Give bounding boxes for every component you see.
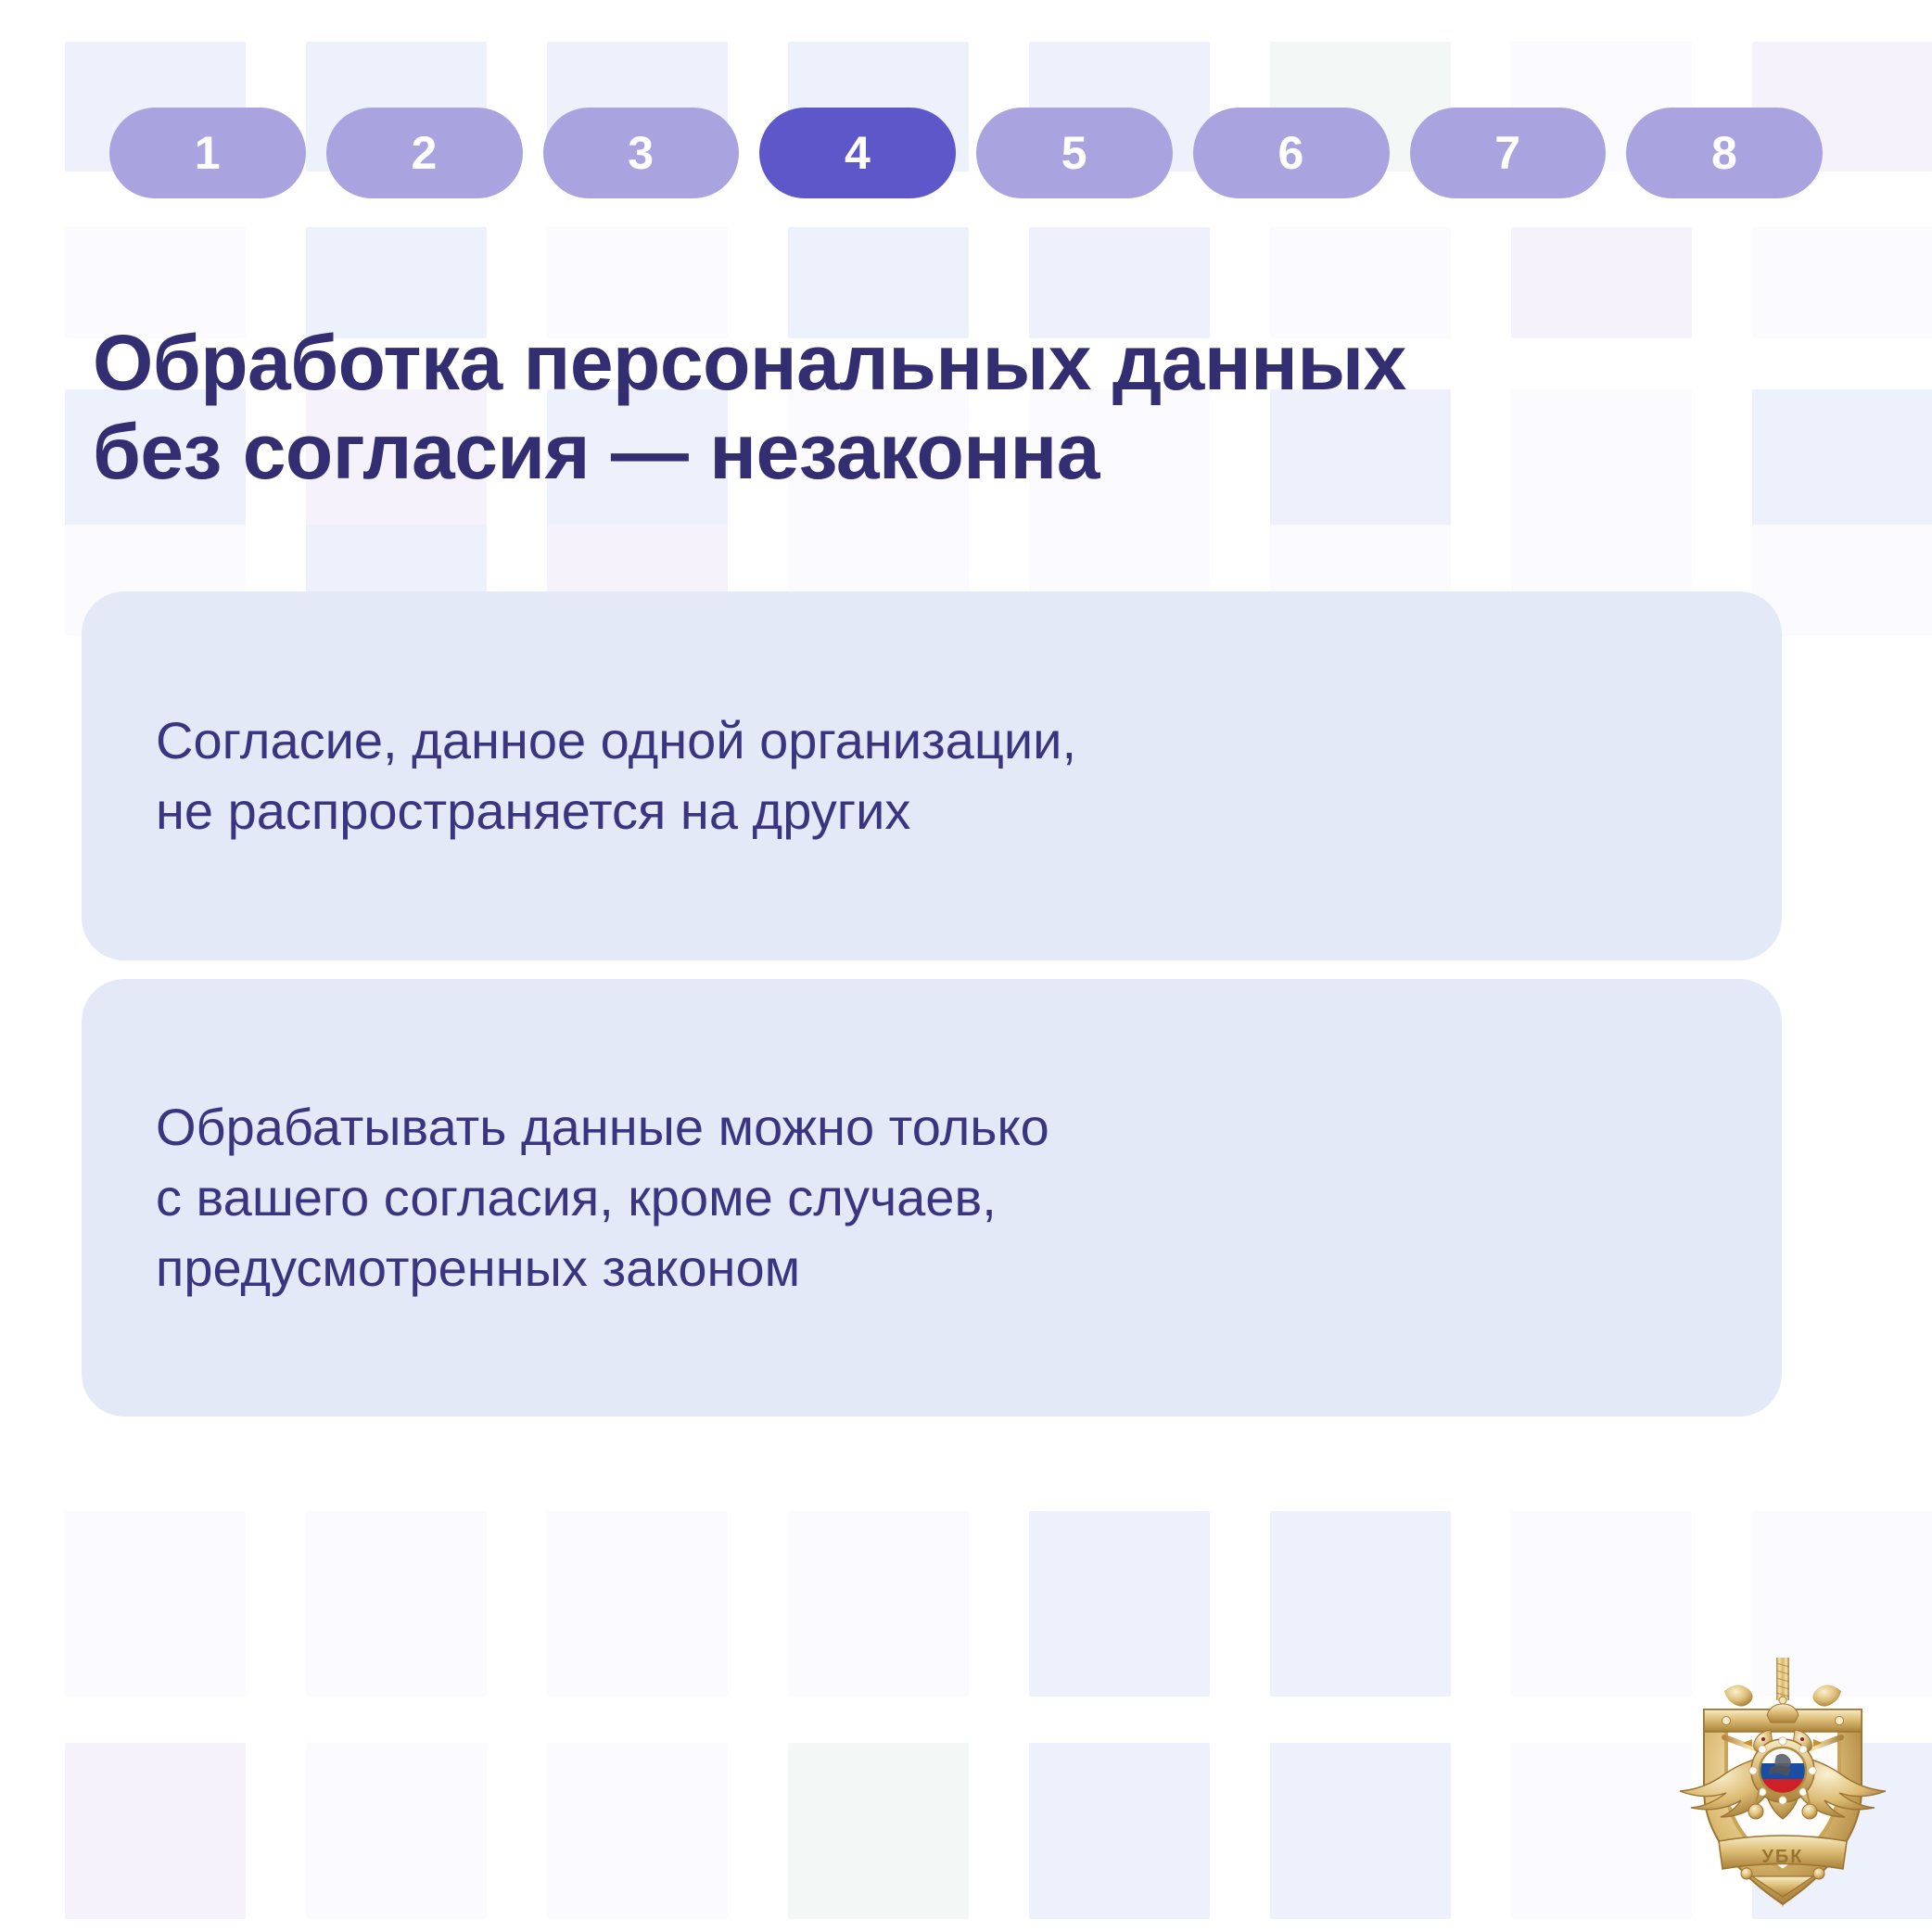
step-pill-label: 2 — [411, 126, 437, 180]
info-card-text: Согласие, данное одной организации, не р… — [156, 705, 1708, 846]
step-indicator: 12345678 — [109, 108, 1823, 198]
step-pill-2[interactable]: 2 — [326, 108, 523, 198]
step-pill-label: 1 — [195, 126, 221, 180]
step-pill-7[interactable]: 7 — [1410, 108, 1607, 198]
step-pill-label: 4 — [845, 126, 871, 180]
emblem-artwork: УБК — [1667, 1658, 1899, 1910]
step-pill-8[interactable]: 8 — [1626, 108, 1823, 198]
ubk-emblem-logo: УБК — [1667, 1658, 1899, 1910]
step-pill-label: 8 — [1711, 126, 1737, 180]
info-card: Обрабатывать данные можно только с вашег… — [82, 979, 1782, 1417]
step-pill-label: 6 — [1277, 126, 1303, 180]
step-pill-5[interactable]: 5 — [976, 108, 1173, 198]
step-pill-3[interactable]: 3 — [543, 108, 740, 198]
infographic-slide: 12345678 Обработка персональных данных б… — [0, 0, 1932, 1932]
info-card-text: Обрабатывать данные можно только с вашег… — [156, 1092, 1708, 1303]
step-pill-label: 5 — [1061, 126, 1087, 180]
emblem-banner-text: УБК — [1761, 1847, 1803, 1867]
page-title: Обработка персональных данных без соглас… — [93, 319, 1761, 497]
step-pill-label: 7 — [1494, 126, 1520, 180]
info-card: Согласие, данное одной организации, не р… — [82, 591, 1782, 960]
step-pill-4[interactable]: 4 — [759, 108, 956, 198]
step-pill-label: 3 — [628, 126, 654, 180]
step-pill-1[interactable]: 1 — [109, 108, 306, 198]
step-pill-6[interactable]: 6 — [1193, 108, 1390, 198]
